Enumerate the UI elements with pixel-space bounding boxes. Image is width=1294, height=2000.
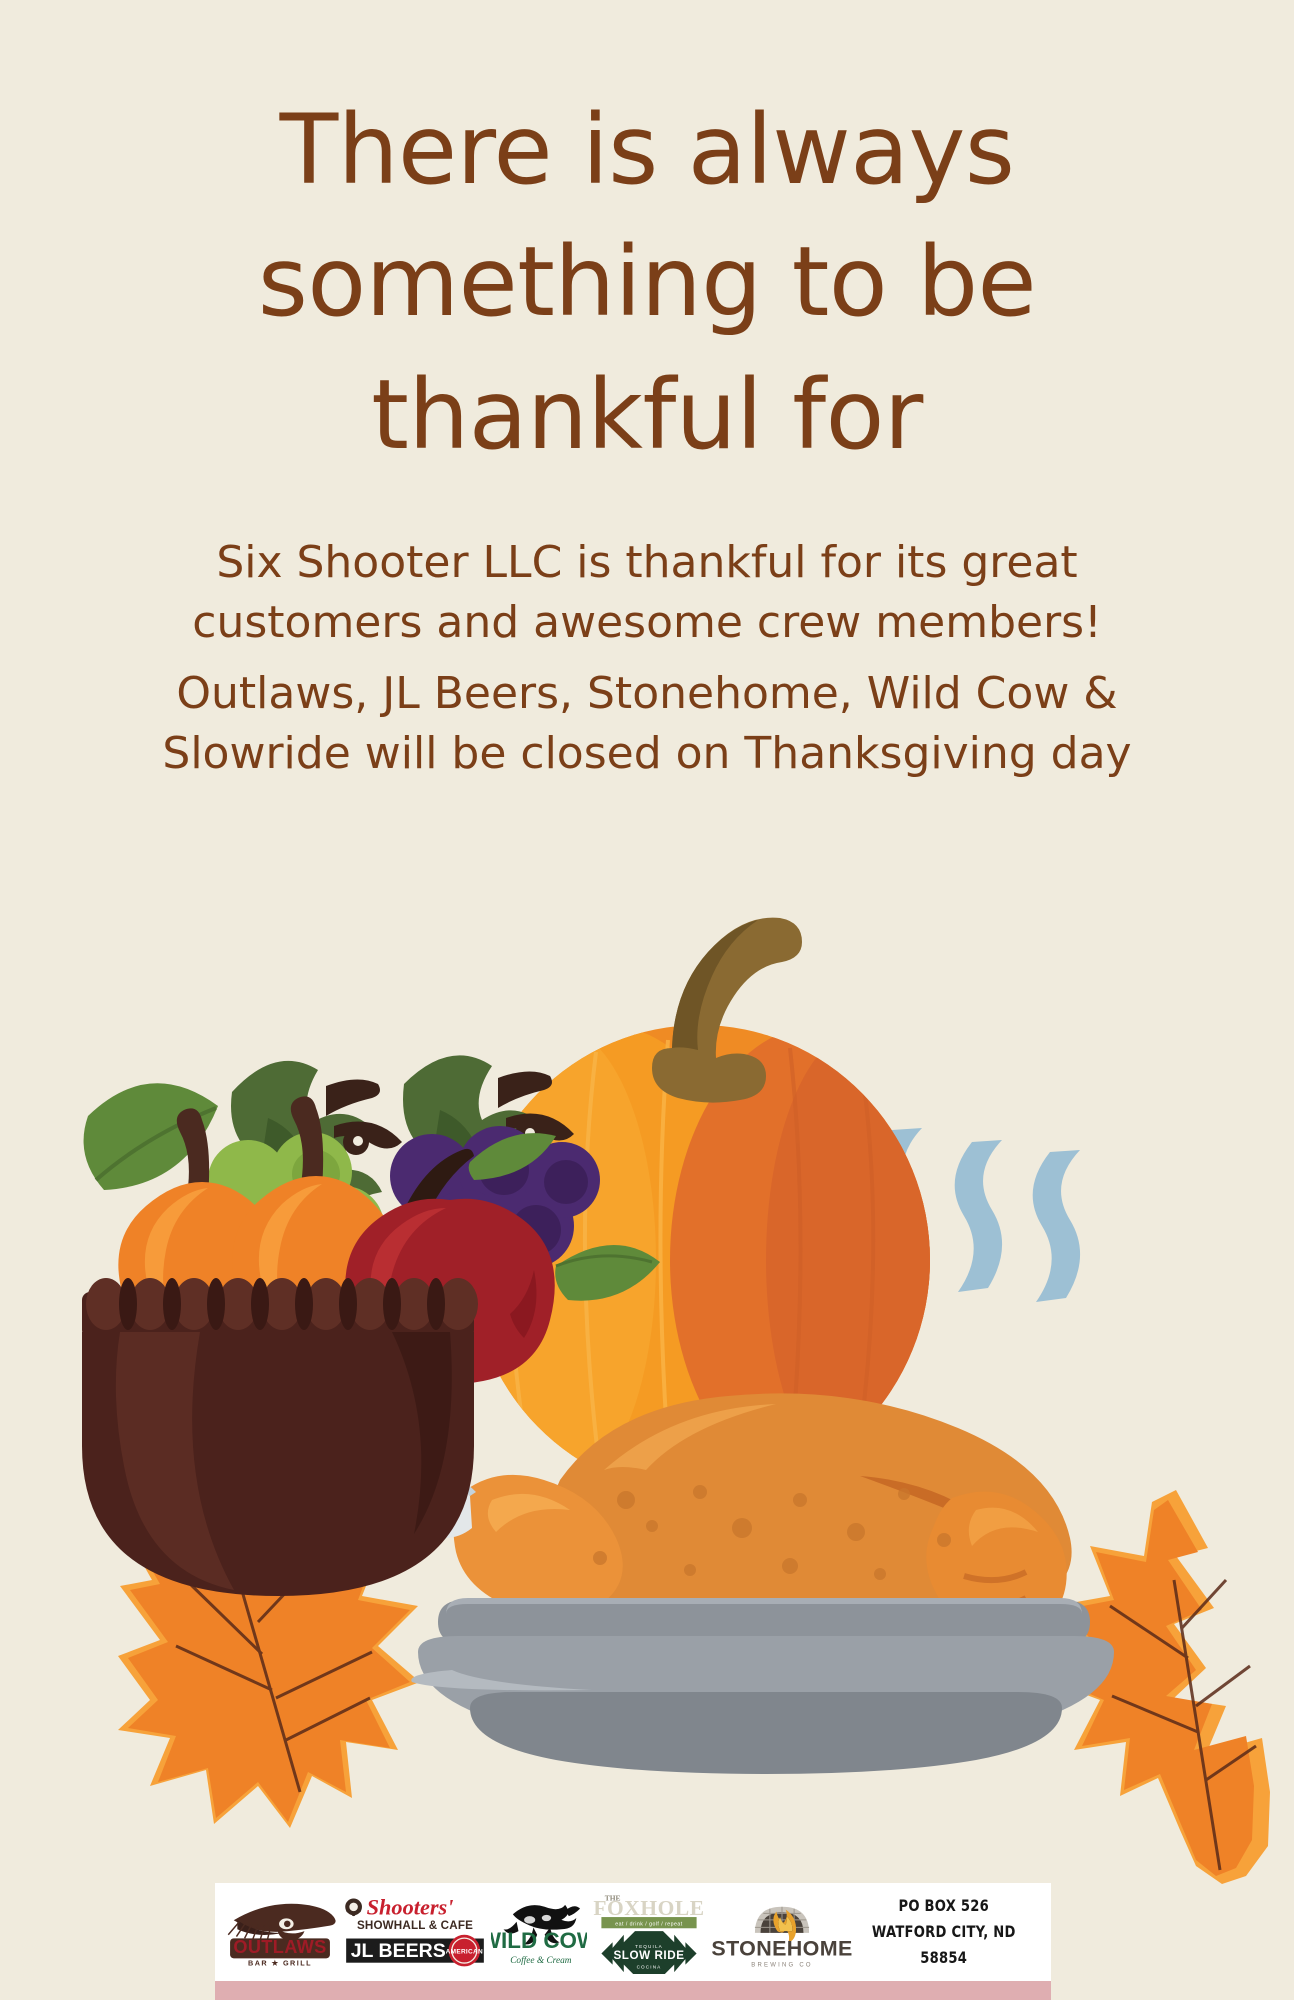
logo-outlaws[interactable]: OUTLAWS BAR ★ GRILL <box>221 1883 339 1981</box>
address-line-2: WATFORD CITY, ND <box>872 1919 1016 1945</box>
serving-platter <box>411 1598 1114 1774</box>
logo-slow-ride-below: COCINA <box>637 1964 662 1969</box>
logo-slow-ride-above: TEQUILA <box>635 1944 663 1949</box>
logo-jl-beers-text: JL BEERS <box>351 1940 446 1962</box>
logo-shooters-subtitle: SHOWHALL & CAFE <box>357 1919 473 1932</box>
bowl-rim <box>82 1278 478 1338</box>
logo-wild-cow-tagline: Coffee & Cream <box>510 1955 572 1966</box>
mailing-address: PO BOX 526 WATFORD CITY, ND 58854 <box>872 1893 1044 1971</box>
logo-foxhole-slow-ride[interactable]: THE FOXHOLE eat / drink / golf / repeat … <box>587 1883 711 1981</box>
logo-foxhole-text: FOXHOLE <box>593 1896 704 1920</box>
headline-line-2: something to be <box>70 216 1224 348</box>
logo-outlaws-tagline: BAR ★ GRILL <box>248 1959 312 1968</box>
logo-stonehome-brewing[interactable]: STONEHOME BREWING CO <box>711 1883 853 1981</box>
logo-bar-accent-strip <box>215 1981 1051 2000</box>
logo-foxhole-tagline: eat / drink / golf / repeat <box>615 1921 683 1927</box>
address-line-3: 58854 <box>872 1945 1016 1971</box>
logo-jl-beers-badge: AMERICAN <box>446 1948 483 1955</box>
address-line-1: PO BOX 526 <box>872 1893 1016 1919</box>
logo-stonehome-tagline: BREWING CO <box>751 1963 813 1969</box>
sponsor-logo-bar: OUTLAWS BAR ★ GRILL Shooters' SHOWHALL &… <box>215 1883 1051 1981</box>
logo-six-shooters-jl-beers[interactable]: Shooters' SHOWHALL & CAFE JL BEERS AMERI… <box>339 1883 491 1981</box>
logo-wild-cow-text: WILD COW <box>491 1928 587 1953</box>
body-paragraph-2: Outlaws, JL Beers, Stonehome, Wild Cow &… <box>110 664 1184 785</box>
thanksgiving-illustration <box>0 880 1294 1920</box>
headline-line-1: There is always <box>70 84 1224 216</box>
logo-shooters-text: Shooters' <box>367 1894 454 1919</box>
logo-outlaws-text: OUTLAWS <box>233 1937 326 1957</box>
logo-wild-cow[interactable]: WILD COW Coffee & Cream <box>491 1883 587 1981</box>
logo-stonehome-text: STONEHOME <box>711 1936 852 1960</box>
body-copy: Six Shooter LLC is thankful for its grea… <box>110 533 1184 784</box>
body-paragraph-1: Six Shooter LLC is thankful for its grea… <box>110 533 1184 654</box>
headline-line-3: thankful for <box>70 349 1224 481</box>
poster-canvas: There is always something to be thankful… <box>0 0 1294 2000</box>
page-title: There is always something to be thankful… <box>0 84 1294 481</box>
fruit-bowl <box>82 1278 478 1596</box>
logo-slow-ride-text: SLOW RIDE <box>613 1949 684 1962</box>
